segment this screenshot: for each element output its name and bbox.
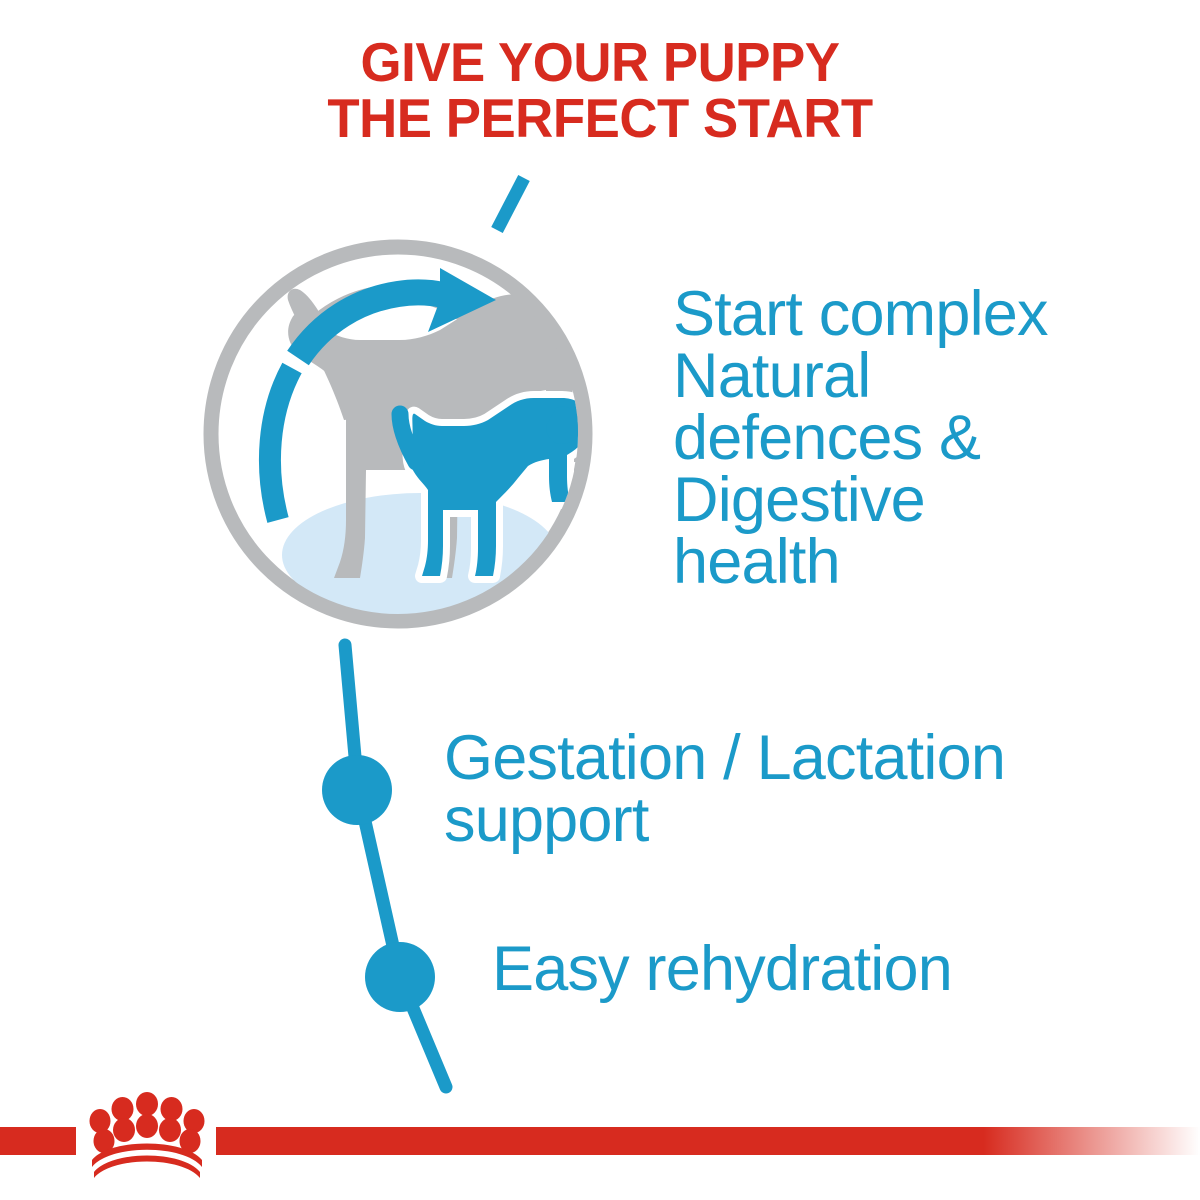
benefits-diagram	[0, 0, 1200, 1200]
brand-bar-left	[0, 1127, 76, 1155]
bullet-dot-rehydration	[365, 942, 435, 1012]
ground-ellipse	[282, 493, 558, 617]
benefit-start-complex-natural-defences-digestive-health: Start complex Natural defences & Digesti…	[673, 283, 1183, 593]
growth-icon-group	[211, 247, 609, 621]
growth-arrow	[270, 268, 496, 520]
gray-circle-ring	[211, 247, 585, 621]
puppy-silhouette	[400, 398, 590, 576]
headline-line-1: GIVE YOUR PUPPY	[24, 34, 1176, 90]
royal-canin-crown-logo	[78, 1092, 216, 1178]
adult-dog-head-detail	[513, 264, 555, 298]
benefit-easy-rehydration: Easy rehydration	[492, 938, 1192, 1000]
benefit-gestation-lactation-support: Gestation / Lactation support	[444, 727, 1184, 851]
brand-bar-right	[216, 1127, 1200, 1155]
bullet-dot-gestation	[322, 755, 392, 825]
puppy-benefits-panel: GIVE YOUR PUPPY THE PERFECT START	[0, 0, 1200, 1200]
adult-dog-tail	[288, 289, 364, 420]
page-title: GIVE YOUR PUPPY THE PERFECT START	[24, 34, 1176, 146]
growth-arc-gray	[300, 293, 497, 352]
headline-line-2: THE PERFECT START	[24, 90, 1176, 146]
adult-dog-silhouette	[288, 294, 609, 578]
